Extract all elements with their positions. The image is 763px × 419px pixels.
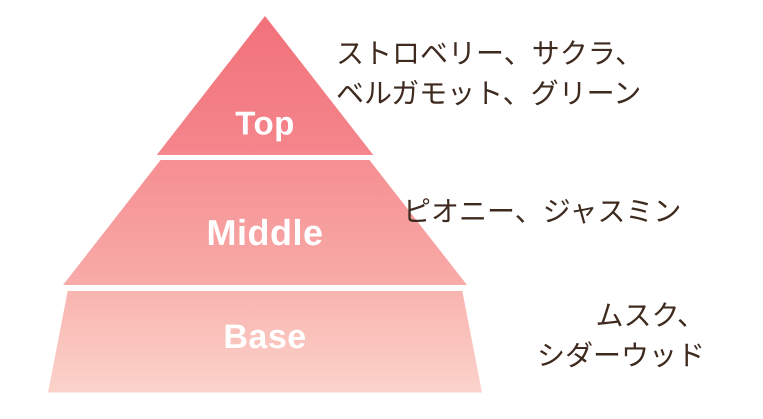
tier-label-base: Base: [223, 320, 306, 354]
note-base-line-1: ムスク、: [537, 296, 705, 336]
note-top-line-1: ストロベリー、サクラ、: [336, 34, 643, 74]
note-base-line-2: シダーウッド: [537, 336, 705, 376]
note-middle: ピオニー、ジャスミン: [403, 192, 681, 232]
note-top-line-2: ベルガモット、グリーン: [336, 74, 643, 114]
note-middle-line-1: ピオニー、ジャスミン: [403, 192, 681, 232]
note-top: ストロベリー、サクラ、 ベルガモット、グリーン: [336, 34, 643, 114]
tier-label-top: Top: [235, 107, 295, 140]
tier-label-middle: Middle: [207, 215, 324, 251]
fragrance-pyramid-diagram: Top Middle Base ストロベリー、サクラ、 ベルガモット、グリーン …: [0, 0, 763, 419]
note-base: ムスク、 シダーウッド: [537, 296, 705, 376]
